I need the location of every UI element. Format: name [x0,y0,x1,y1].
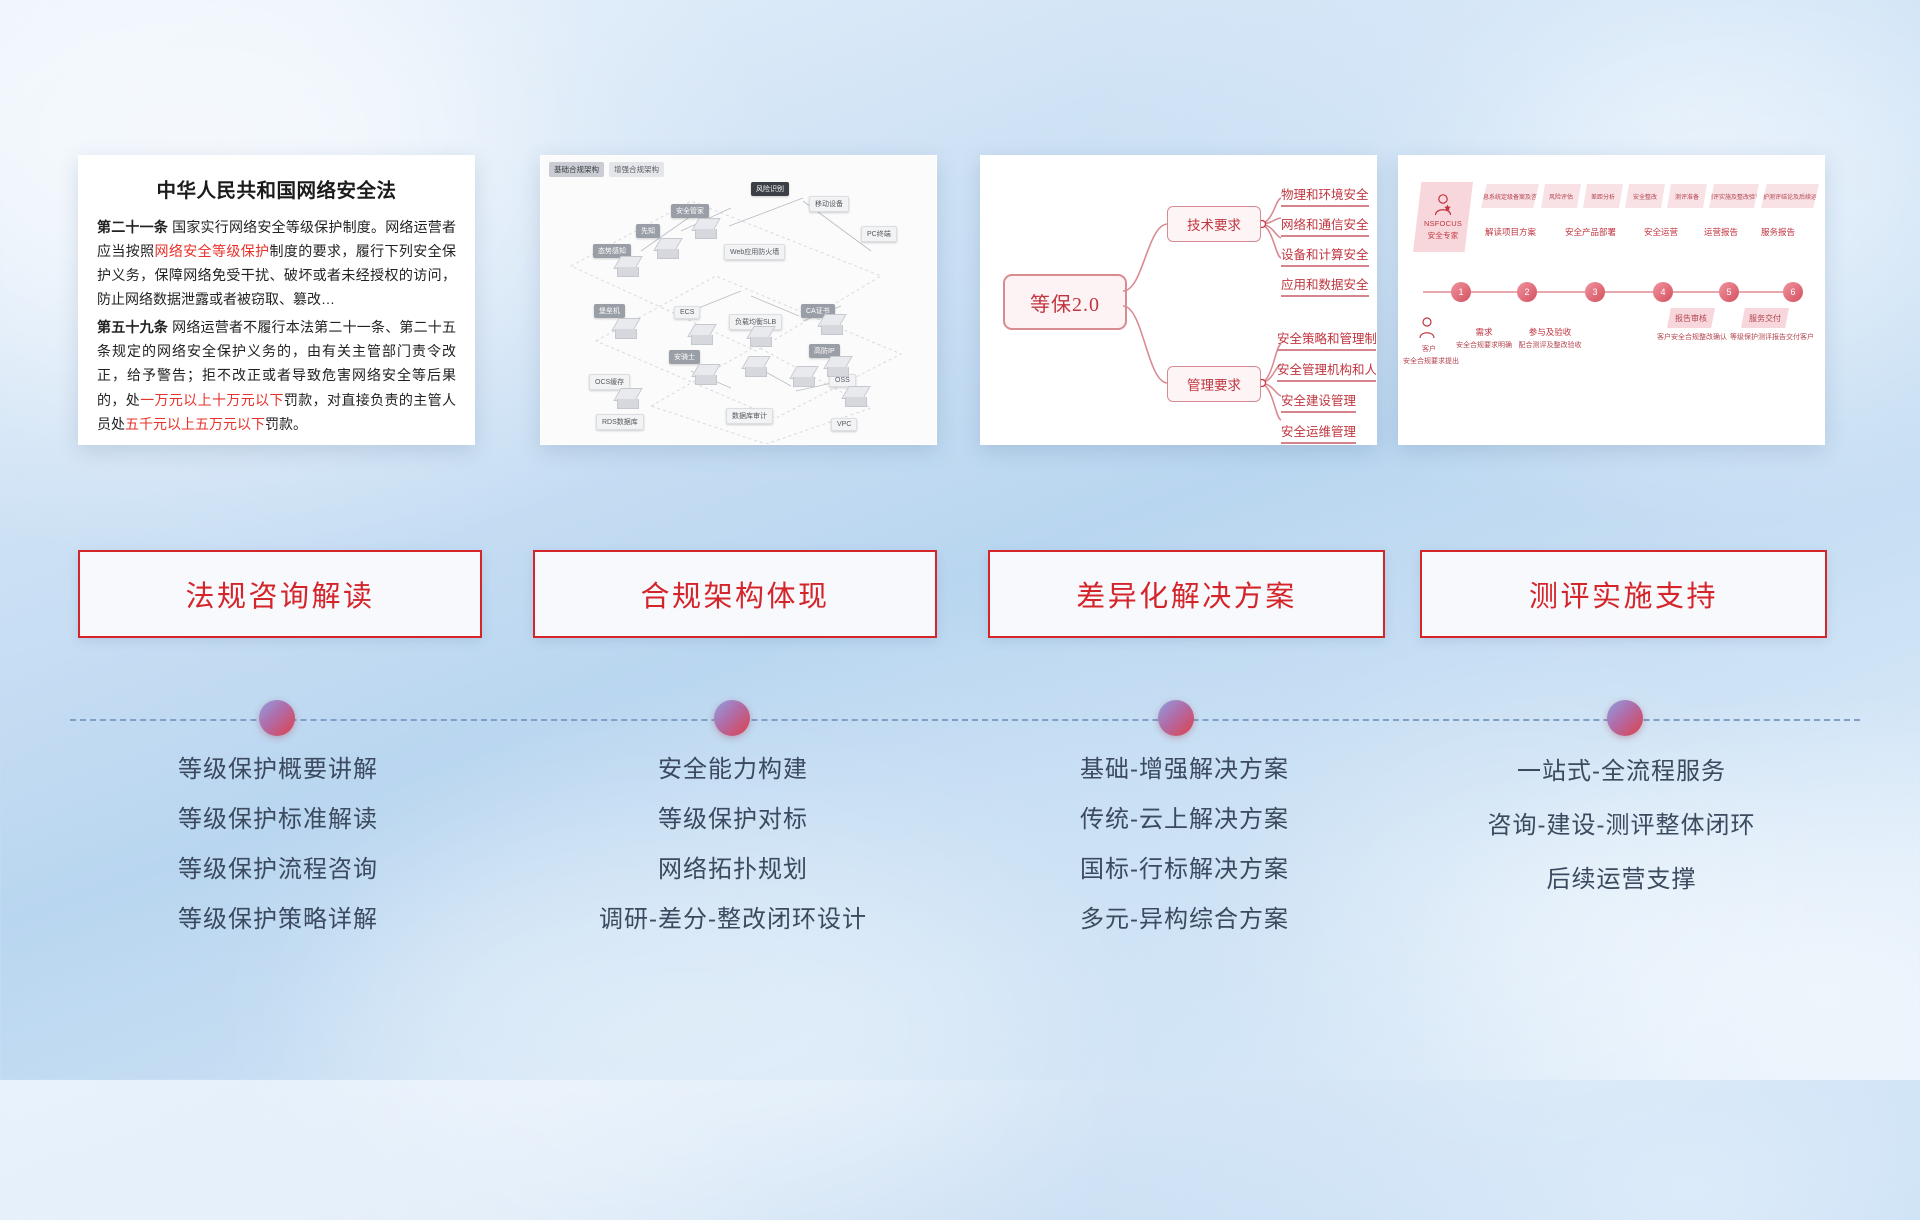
nsfocus-brand-sub: 安全专家 [1428,230,1459,241]
architecture-connectors [541,156,936,444]
list-item: 等级保护标准解读 [78,795,478,845]
mindmap-leaf: 安全管理机构和人员 [1277,359,1377,382]
list-item: 安全能力构建 [533,745,933,795]
pillar-details-3: 基础-增强解决方案 传统-云上解决方案 国标-行标解决方案 多元-异构综合方案 [988,745,1381,945]
law-document: 中华人民共和国网络安全法 第二十一条 国家实行网络安全等级保护制度。网络运营者应… [79,156,474,444]
flow-step: 风险评估 [1541,184,1581,208]
list-item: 国标-行标解决方案 [988,845,1381,895]
pillar-title-text: 法规咨询解读 [185,573,374,615]
list-item: 咨询-建设-测评整体闭环 [1420,799,1823,853]
timeline-dashed-line [70,719,1860,721]
mindmap-leaf: 网络和通信安全 [1281,214,1369,237]
footer-tag: 报告审核 [1667,308,1715,328]
article-21-label: 第二十一条 [97,219,168,235]
pillar-title-row: 法规咨询解读 合规架构体现 差异化解决方案 测评实施支持 [0,550,1920,640]
node-vpc: VPC [831,418,857,431]
mindmap-leaf: 物理和环境安全 [1281,184,1369,207]
law-article-21: 第二十一条 国家实行网络安全等级保护制度。网络运营者应当按照网络安全等级保护制度… [97,215,456,311]
timeline-axis [1423,291,1801,293]
customer-label: 客户 [1409,344,1449,354]
footer-item-sub: 客户安全合规整改确认 [1649,332,1735,342]
card-nsfocus-service-flow[interactable]: NSFOCUS 安全专家 信息系统定级备案及咨询 风险评估 差距分析 安全整改 … [1398,155,1825,445]
node-xianzhi: 先知 [636,224,660,238]
list-item: 等级保护策略详解 [78,895,478,945]
node-mobile-device: 移动设备 [809,196,849,212]
mindmap-branch-technical: 技术要求 [1167,206,1261,242]
flow-step: 差距分析 [1583,184,1623,208]
node-security-butler: 安全管家 [671,204,709,218]
process-timeline [0,700,1920,740]
list-item: 后续运营支撑 [1420,853,1823,907]
pillar-title-text: 差异化解决方案 [1076,573,1297,615]
stage-label: 安全产品部署 [1565,226,1616,238]
mindmap-branch-management: 管理要求 [1167,366,1261,402]
list-item: 基础-增强解决方案 [988,745,1381,795]
cube-icon [653,238,679,258]
cube-icon [613,388,639,408]
flow-step: 测评准备 [1667,184,1707,208]
timeline-node: 5 [1719,282,1739,302]
node-rds-database: RDS数据库 [596,414,644,430]
footer-item-sub: 配合测评及整改验收 [1511,340,1589,350]
nsfocus-timeline: NSFOCUS 安全专家 信息系统定级备案及咨询 风险评估 差距分析 安全整改 … [1399,156,1824,444]
timeline-marker-3[interactable] [1158,700,1194,736]
customer-sublabel: 安全合规要求提出 [1401,356,1461,366]
list-item: 网络拓扑规划 [533,845,933,895]
flow-step: 等级保护测评结论及后续运营支撑 [1761,184,1819,208]
card-compliance-architecture[interactable]: 基础合规架构 增强合规架构 [540,155,937,445]
mindmap-leaf: 安全运维管理 [1281,421,1356,444]
node-bastion-host: 堡垒机 [594,304,625,318]
article-59-label: 第五十九条 [97,319,168,335]
list-item: 等级保护对标 [533,795,933,845]
list-item: 一站式-全流程服务 [1420,745,1823,799]
pillar-details-4: 一站式-全流程服务 咨询-建设-测评整体闭环 后续运营支撑 [1420,745,1823,907]
flow-step: 安全整改 [1625,184,1665,208]
article-59-text-c: 罚款。 [265,416,307,432]
cube-icon [841,386,867,406]
stage-label: 解读项目方案 [1485,226,1536,238]
node-anqishi: 安骑士 [669,350,700,364]
pillar-title-box-2[interactable]: 合规架构体现 [533,550,937,638]
architecture-diagram: 基础合规架构 增强合规架构 [541,156,936,444]
mindmap-leaf: 安全策略和管理制度 [1277,328,1377,351]
cube-icon [613,256,639,276]
cube-icon [789,366,815,386]
cube-icon [611,318,637,338]
pillar-title-box-1[interactable]: 法规咨询解读 [78,550,482,638]
node-waf: Web应用防火墙 [724,244,785,260]
article-21-highlight: 网络安全等级保护 [155,243,270,259]
card-mindmap-dengbao[interactable]: 等保2.0 [980,155,1377,445]
timeline-node: 1 [1451,282,1471,302]
customer-icon [1417,316,1437,345]
stage-label: 安全运营 [1644,226,1678,238]
list-item: 调研-差分-整改闭环设计 [533,895,933,945]
article-59-fine-company: 一万元以上十万元以下 [140,392,284,408]
law-title: 中华人民共和国网络安全法 [97,174,456,203]
nsfocus-brand-badge: NSFOCUS 安全专家 [1413,182,1473,252]
poster-canvas: 中华人民共和国网络安全法 第二十一条 国家实行网络安全等级保护制度。网络运营者应… [0,0,1920,1080]
timeline-marker-4[interactable] [1607,700,1643,736]
cube-icon [746,326,772,346]
card-cybersecurity-law[interactable]: 中华人民共和国网络安全法 第二十一条 国家实行网络安全等级保护制度。网络运营者应… [78,155,475,445]
stage-label: 运营报告 [1704,226,1738,238]
flow-step: 测评实施及整改验证 [1709,184,1759,208]
pillar-title-text: 测评实施支持 [1529,573,1718,615]
footer-item-sub: 安全合规要求明确 [1453,340,1515,350]
list-item: 多元-异构综合方案 [988,895,1381,945]
mindmap-leaf: 应用和数据安全 [1281,274,1369,297]
timeline-marker-2[interactable] [714,700,750,736]
list-item: 传统-云上解决方案 [988,795,1381,845]
node-db-audit: 数据库审计 [726,408,773,424]
cube-icon [691,218,717,238]
law-article-59: 第五十九条 网络运营者不履行本法第二十一条、第二十五条规定的网络安全保护义务的，… [97,315,456,435]
node-ecs: ECS [674,306,700,319]
footer-item-title: 参与及验收 [1519,326,1581,338]
timeline-node: 4 [1653,282,1673,302]
mindmap-leaf: 安全建设管理 [1281,390,1356,413]
pillar-details-2: 安全能力构建 等级保护对标 网络拓扑规划 调研-差分-整改闭环设计 [533,745,933,945]
timeline-marker-1[interactable] [259,700,295,736]
list-item: 等级保护概要讲解 [78,745,478,795]
list-item: 等级保护流程咨询 [78,845,478,895]
cube-icon [823,356,849,376]
stage-label: 服务报告 [1761,226,1795,238]
timeline-node: 3 [1585,282,1605,302]
footer-tag: 服务交付 [1741,308,1789,328]
flow-step: 信息系统定级备案及咨询 [1481,184,1539,208]
cube-icon [817,314,843,334]
mindmap: 等保2.0 [981,156,1376,444]
footer-item-sub: 等级保护测评报告交付客户 [1725,332,1819,342]
image-card-row: 中华人民共和国网络安全法 第二十一条 国家实行网络安全等级保护制度。网络运营者应… [0,155,1920,445]
timeline-node: 2 [1517,282,1537,302]
nsfocus-brand-name: NSFOCUS [1424,219,1462,228]
mindmap-leaf: 设备和计算安全 [1281,244,1369,267]
cube-icon [687,324,713,344]
timeline-node: 6 [1783,282,1803,302]
pillar-title-box-3[interactable]: 差异化解决方案 [988,550,1385,638]
cube-icon [691,364,717,384]
footer-item-title: 需求 [1463,326,1505,338]
node-risk-identify: 风险识别 [751,182,789,196]
article-59-fine-person: 五千元以上五万元以下 [125,416,265,432]
security-expert-icon [1432,193,1454,217]
pillar-title-text: 合规架构体现 [640,573,829,615]
cube-icon [741,356,767,376]
pillar-details-1: 等级保护概要讲解 等级保护标准解读 等级保护流程咨询 等级保护策略详解 [78,745,478,945]
node-pc-terminal: PC终端 [861,226,897,242]
pillar-title-box-4[interactable]: 测评实施支持 [1420,550,1827,638]
